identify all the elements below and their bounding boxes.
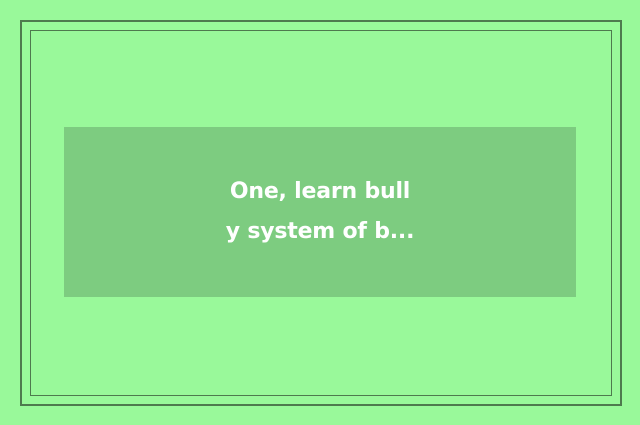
panel-text-line-2: y system of b... (220, 212, 420, 252)
panel-text-block: One, learn bull y system of b... (220, 172, 420, 252)
panel-text-line-1: One, learn bull (220, 172, 420, 212)
page-canvas: One, learn bull y system of b... (0, 0, 640, 425)
content-panel: One, learn bull y system of b... (64, 127, 576, 297)
